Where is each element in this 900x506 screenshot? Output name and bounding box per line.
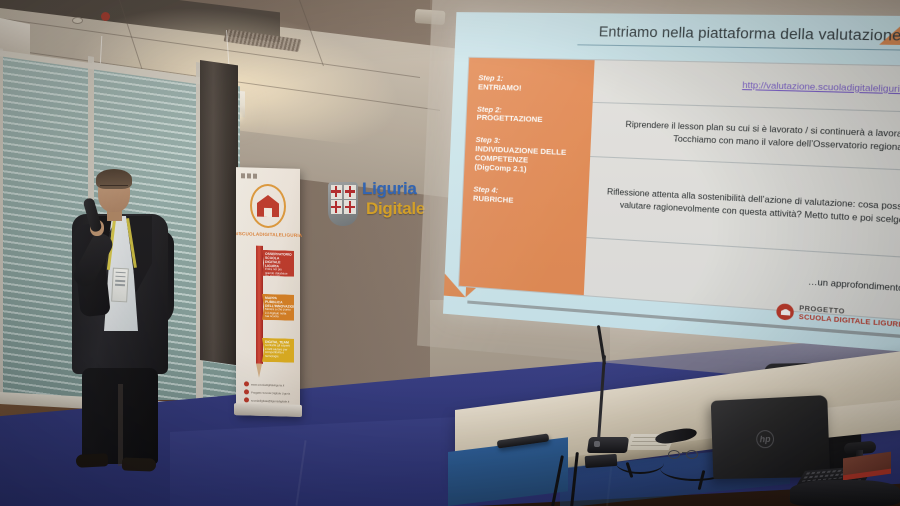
banner-hashtag: #SCUOLADIGITALELIGURIA	[236, 231, 300, 238]
shield-icon	[328, 182, 358, 226]
rollup-banner: #SCUOLADIGITALELIGURIA OSSERVATORIO SCUO…	[236, 167, 300, 417]
slide-step: Step 3: INDIVIDUAZIONE DELLE COMPETENZE …	[474, 136, 582, 177]
banner-flag: OSSERVATORIO SCUOLA DIGITALE LIGURIA Ent…	[262, 250, 294, 277]
banner-link: Progetto Scuola Digitale Liguria	[251, 390, 290, 395]
eyeglasses-bridge	[682, 452, 688, 453]
banner-flag: MAPPA PUBBLICA DELL’INNOVAZIONE Mostra a…	[262, 294, 294, 321]
facebook-icon	[244, 389, 249, 394]
slide-step: Step 1: ENTRIAMO!	[478, 74, 586, 95]
mail-icon	[244, 397, 249, 402]
microphone-led	[594, 441, 600, 447]
logo-word-liguria: Liguria	[362, 179, 417, 199]
presenter-shoe-right	[122, 457, 156, 471]
presenter-shoe-left	[76, 453, 109, 468]
banner-emblem	[250, 183, 286, 228]
presenter	[60, 172, 190, 472]
banner-flag: DIGITAL TEAM Contatta gli esperti e fatt…	[262, 338, 294, 363]
smoke-detector-icon	[72, 17, 83, 24]
slide-content-column: http://valutazione.scuoladigitaleliguria…	[584, 60, 900, 320]
banner-link: www.scuoladigitaleliguria.it	[251, 382, 284, 387]
logo-word-digitale: Digitale	[366, 199, 425, 219]
slide-step: Step 4: RUBRICHE	[473, 185, 580, 209]
projection-screen: Entriamo nella piattaforma della valutaz…	[417, 0, 900, 394]
slide-title-rule	[577, 44, 900, 50]
slide-table: Step 1: ENTRIAMO! Step 2: PROGETTAZIONE …	[458, 57, 900, 321]
banner-base	[234, 403, 302, 417]
cable-loop	[616, 452, 664, 474]
slide-step: Step 2: PROGETTAZIONE	[476, 105, 584, 127]
presentation-room-photo: Liguria Digitale #SCUOLADIGITALELIGURIA …	[0, 0, 900, 506]
slide-title: Entriamo nella piattaforma della valutaz…	[578, 24, 900, 44]
platform-url-link[interactable]: http://valutazione.scuoladigitaleliguria…	[603, 75, 900, 96]
liguria-digitale-wall-logo: Liguria Digitale	[328, 178, 420, 236]
school-logo-icon	[777, 303, 795, 321]
name-badge	[111, 268, 129, 303]
step-text: ENTRIAMO!	[478, 83, 585, 95]
banner-sponsor-marks	[241, 173, 257, 178]
trouser-split	[118, 384, 123, 466]
cell-line: …un approfondimento	[594, 261, 900, 295]
banner-link: scuoladigitale@liguriadigitale.it	[251, 398, 289, 403]
fire-sensor-icon	[101, 12, 110, 21]
laptop[interactable]: hp	[711, 395, 830, 479]
banner-flag-desc: Mostra a che punto è il digitale nella t…	[265, 308, 291, 319]
power-adapter	[585, 454, 618, 468]
partition-frame	[0, 48, 3, 409]
banner-flag-desc: Entra nel più grande database dei proget…	[265, 268, 291, 283]
hp-logo-icon: hp	[756, 430, 774, 449]
globe-icon	[244, 381, 249, 386]
school-building-icon	[257, 195, 279, 218]
presentation-slide: Entriamo nella piattaforma della valutaz…	[443, 12, 900, 353]
pencil-tip	[256, 364, 262, 378]
window-curtain	[200, 60, 238, 365]
banner-flag-desc: Contatta gli esperti e fatti aiutare per…	[265, 344, 291, 359]
slide-steps-column: Step 1: ENTRIAMO! Step 2: PROGETTAZIONE …	[459, 58, 595, 295]
cell-line: Riflessione attenta alla sostenibilità d…	[597, 185, 900, 226]
office-chair-seat	[790, 480, 900, 506]
pencil-illustration	[256, 246, 263, 364]
eyeglasses-icon	[100, 185, 128, 191]
